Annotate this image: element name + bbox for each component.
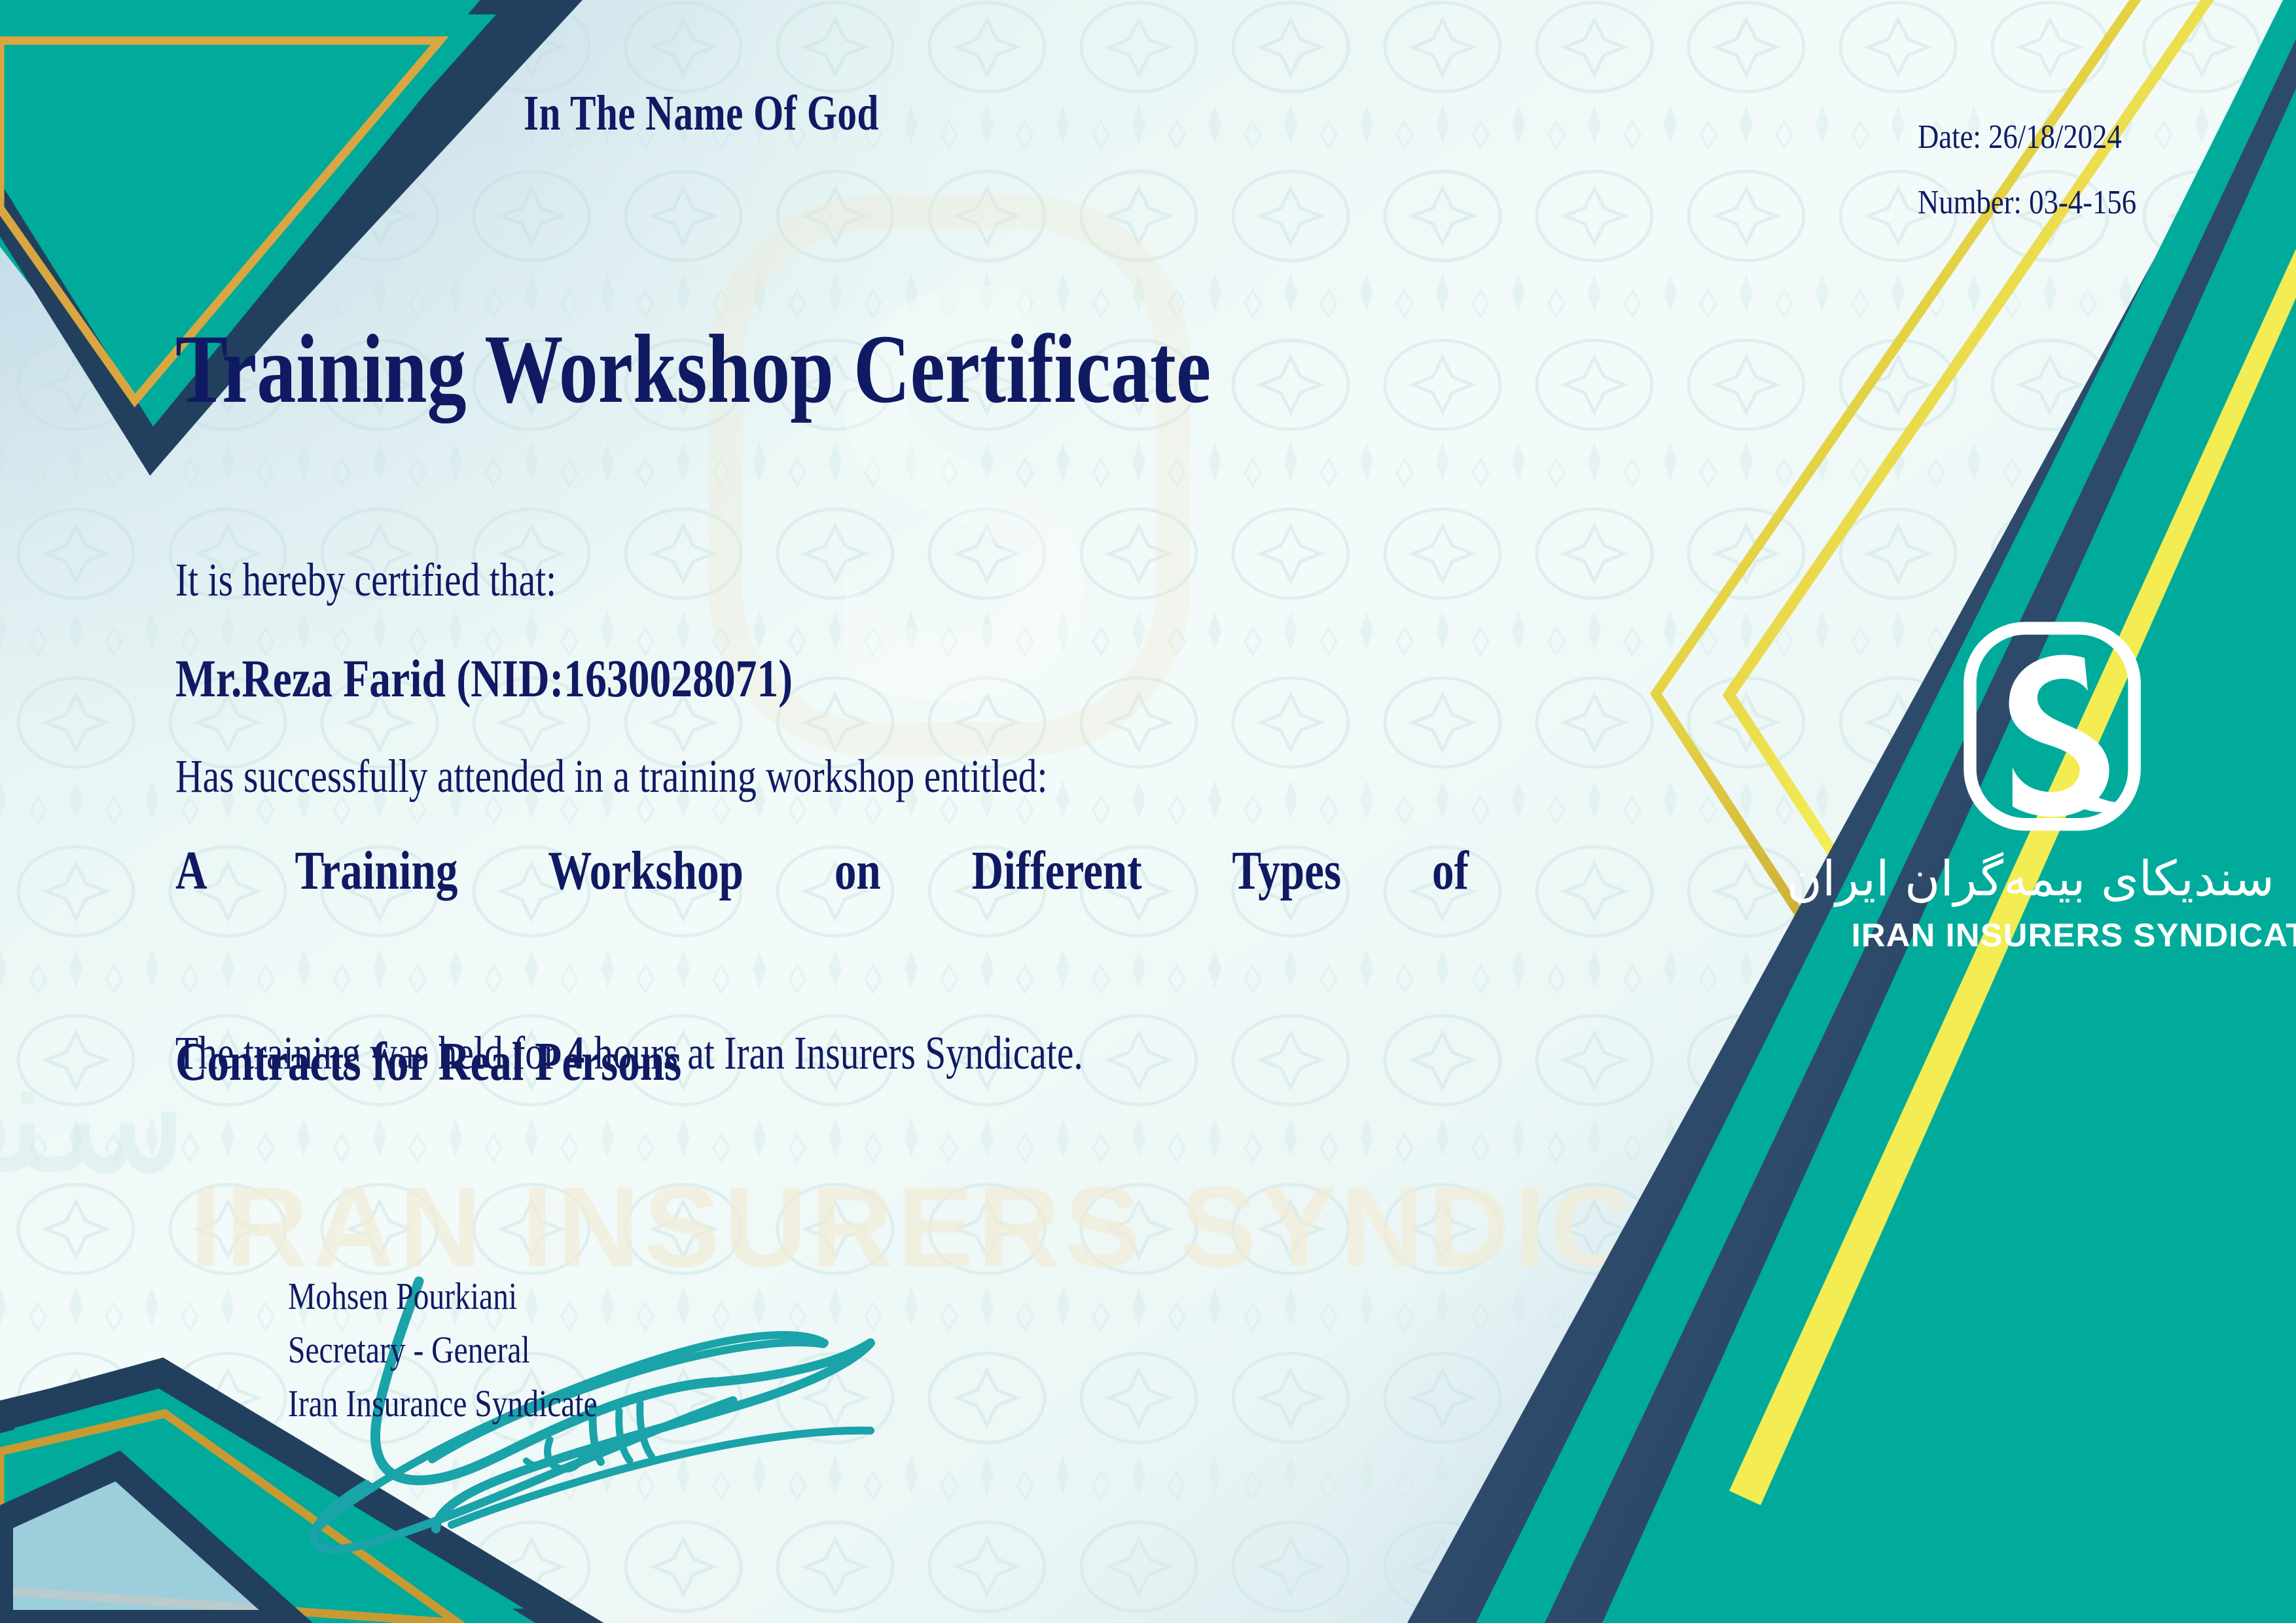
certificate-number: Number: 03-4-156: [1918, 183, 2136, 222]
signatory-name: Mohsen Pourkiani: [288, 1270, 598, 1323]
invocation-heading: In The Name Of God: [524, 85, 879, 142]
certificate-document: سندیکای بیمه‌گران ایران IRAN INSURERS SY…: [0, 0, 2296, 1623]
workshop-title-line-1: A Training Workshop on Different Types o…: [175, 823, 1469, 1014]
recipient-name: Mr.Reza Farid (NID:1630028071): [175, 648, 793, 709]
duration-suffix: hours at Iran Insurers Syndicate.: [584, 1027, 1083, 1079]
issue-date: Date: 26/18/2024: [1918, 118, 2122, 156]
duration-hours: 4: [566, 1027, 585, 1079]
signatory-organization: Iran Insurance Syndicate: [288, 1377, 598, 1431]
attendance-statement: Has successfully attended in a training …: [175, 749, 1047, 804]
duration-statement: The training was held for 4 hours at Ira…: [175, 1026, 1083, 1080]
duration-prefix: The training was held for: [175, 1027, 566, 1079]
page-title: Training Workshop Certificate: [175, 313, 1211, 425]
signature-block: Mohsen Pourkiani Secretary - General Ira…: [288, 1270, 666, 1431]
certified-statement: It is hereby certified that:: [175, 553, 556, 607]
signatory-role: Secretary - General: [288, 1323, 598, 1377]
